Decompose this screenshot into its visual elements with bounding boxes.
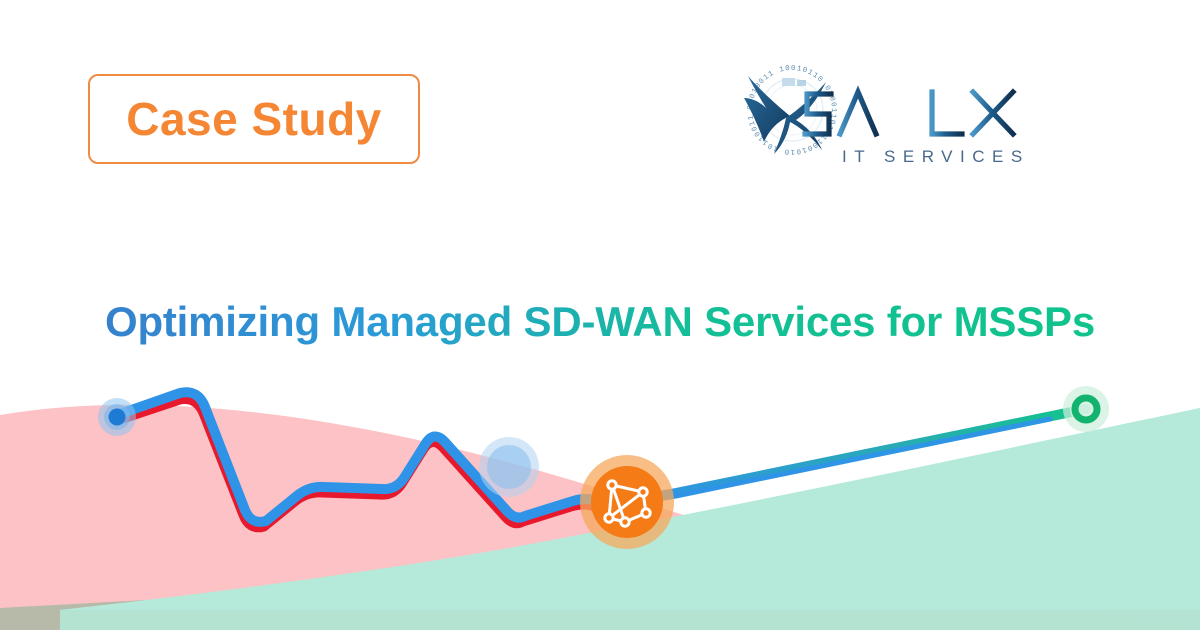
origin-node [98,398,136,436]
satlx-tagline: IT SERVICES [842,147,1030,166]
case-study-badge: Case Study [88,74,420,164]
case-study-badge-label: Case Study [126,96,382,142]
page-title: Optimizing Managed SD-WAN Services for M… [0,298,1200,346]
primary-link-path [117,392,640,522]
destination-link-path-accent [630,419,1050,504]
hub-node[interactable] [580,455,674,549]
destination-node [1063,386,1109,432]
sd-wan-network-illustration [0,355,1200,585]
destination-link-path [630,409,1086,501]
satlx-logo: 01010011 10010110 01001101 11001010 1011… [730,58,1060,178]
satlx-logo-svg: 01010011 10010110 01001101 11001010 1011… [730,58,1060,178]
waypoint-node [479,437,539,497]
case-study-banner: Case Study 01010011 10010110 01001101 [0,0,1200,630]
